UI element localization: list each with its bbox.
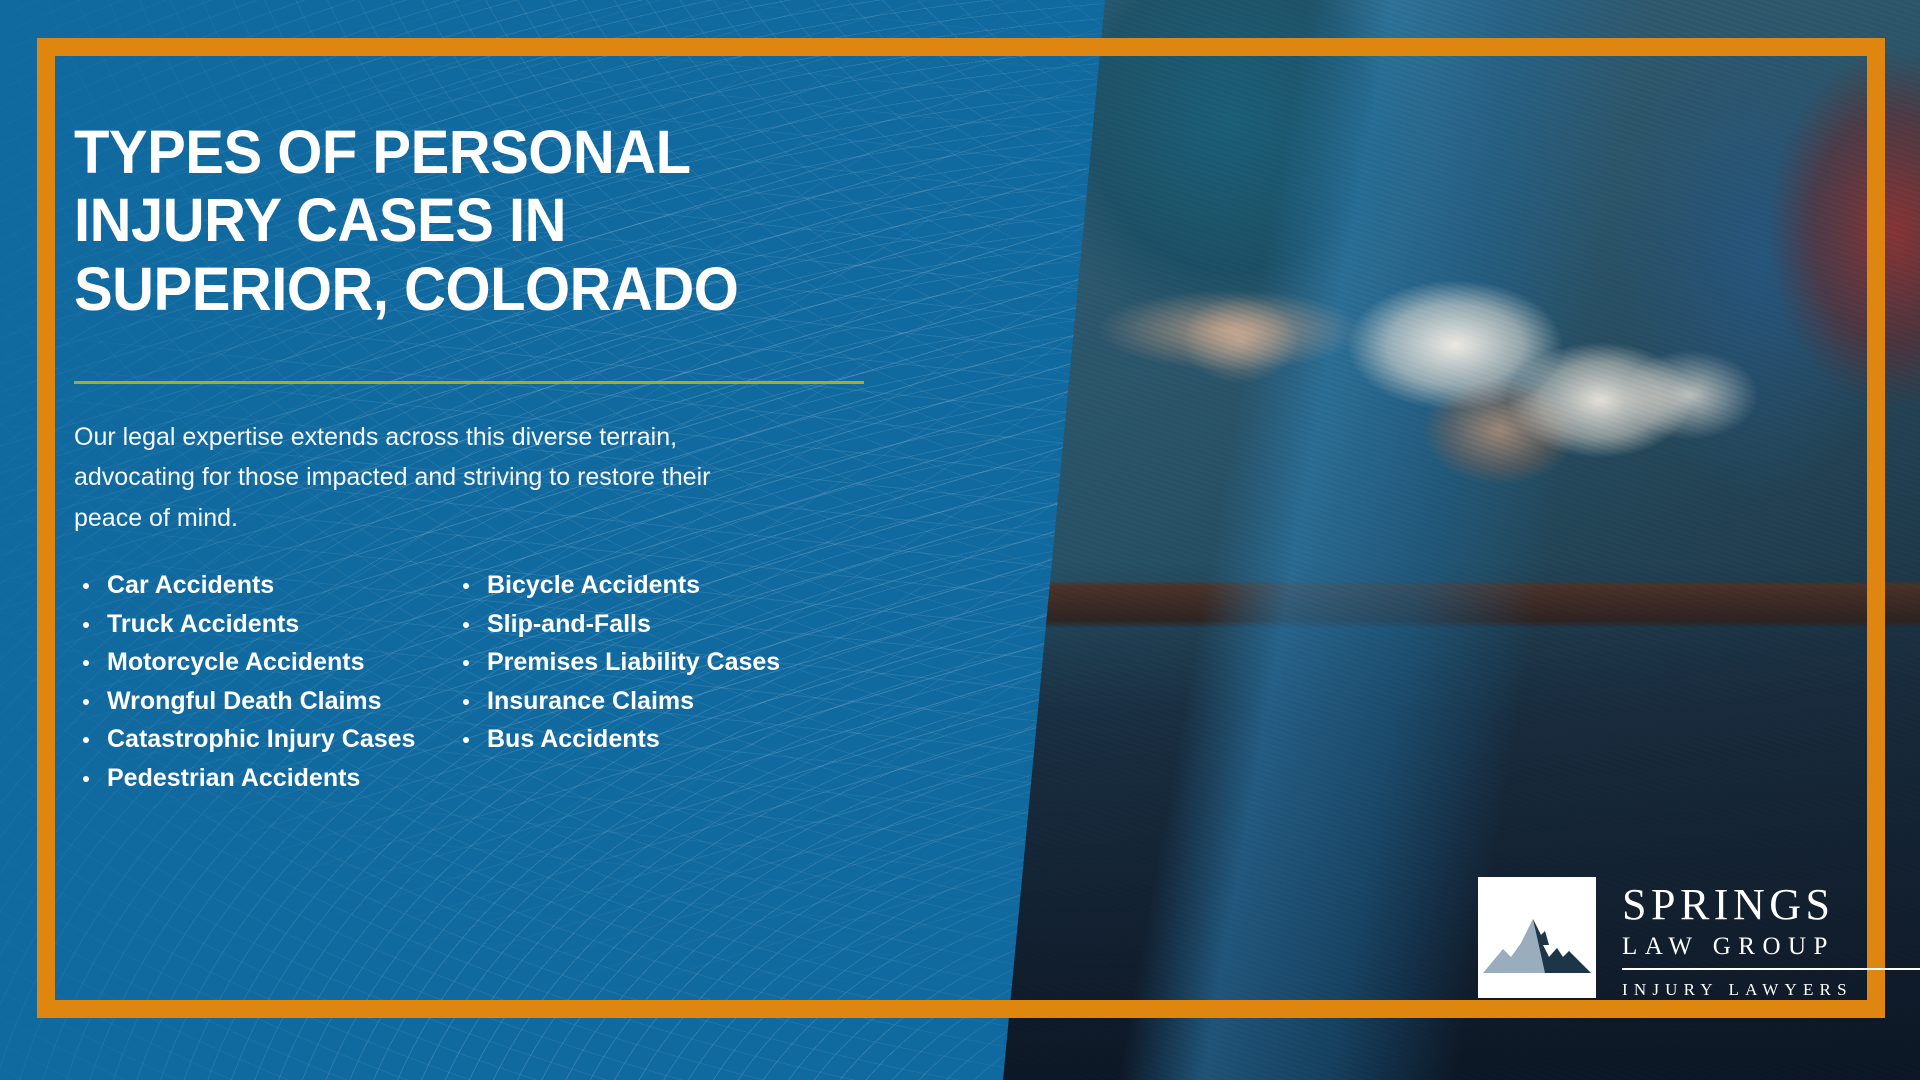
list-right: Bicycle Accidents Slip-and-Falls Premise… [454, 568, 834, 758]
logo-divider [1622, 968, 1920, 970]
list-item: Insurance Claims [454, 684, 834, 720]
list-item: Catastrophic Injury Cases [74, 722, 454, 758]
list-item: Car Accidents [74, 568, 454, 604]
intro-paragraph: Our legal expertise extends across this … [74, 417, 764, 539]
content-block: TYPES OF PERSONAL INJURY CASES IN SUPERI… [74, 118, 894, 799]
list-item: Bus Accidents [454, 722, 834, 758]
page-title: TYPES OF PERSONAL INJURY CASES IN SUPERI… [74, 118, 853, 323]
springs-law-group-logo: SPRINGS LAW GROUP INJURY LAWYERS [1478, 877, 1920, 998]
list-item: Wrongful Death Claims [74, 684, 454, 720]
list-item: Truck Accidents [74, 607, 454, 643]
logo-name: SPRINGS [1622, 883, 1920, 927]
title-divider [74, 381, 864, 384]
logo-wordmark: SPRINGS LAW GROUP INJURY LAWYERS [1622, 877, 1920, 998]
list-item: Premises Liability Cases [454, 645, 834, 681]
case-types-column-right: Bicycle Accidents Slip-and-Falls Premise… [454, 568, 834, 799]
logo-tagline: INJURY LAWYERS [1622, 981, 1920, 998]
list-item: Slip-and-Falls [454, 607, 834, 643]
case-types-column-left: Car Accidents Truck Accidents Motorcycle… [74, 568, 454, 799]
logo-subtitle: LAW GROUP [1622, 934, 1920, 959]
list-left: Car Accidents Truck Accidents Motorcycle… [74, 568, 454, 796]
slide-canvas: TYPES OF PERSONAL INJURY CASES IN SUPERI… [0, 0, 1920, 1080]
list-item: Pedestrian Accidents [74, 761, 454, 797]
list-item: Motorcycle Accidents [74, 645, 454, 681]
list-item: Bicycle Accidents [454, 568, 834, 604]
case-types-lists: Car Accidents Truck Accidents Motorcycle… [74, 568, 894, 799]
mountain-icon [1478, 877, 1596, 998]
